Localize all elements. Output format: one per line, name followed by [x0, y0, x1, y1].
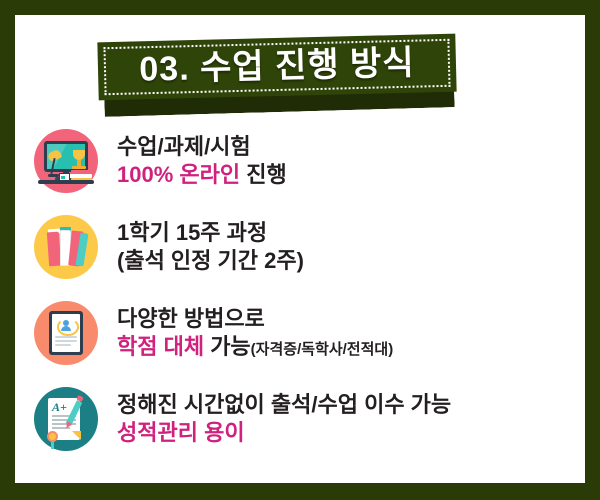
- person-body-icon: [61, 326, 71, 331]
- banner-plate: 03. 수업 진행 방식: [97, 34, 456, 101]
- list-item-line1: 다양한 방법으로: [117, 305, 585, 333]
- a-plus-paper-pencil-icon: A+: [34, 387, 98, 451]
- icon-cell: [15, 301, 117, 365]
- text-cell: 수업/과제/시험 100% 온라인 진행: [117, 133, 585, 189]
- certificate-icon: [34, 301, 98, 365]
- highlight-text: 학점 대체: [117, 334, 204, 359]
- list-item-line2: (출석 인정 기간 2주): [117, 247, 585, 275]
- list-item-line2: 100% 온라인 진행: [117, 161, 585, 189]
- award-rosette-icon: [47, 431, 58, 442]
- text-cell: 다양한 방법으로 학점 대체 가능(자격증/독학사/전적대): [117, 305, 585, 361]
- computer-tower-light-icon: [61, 176, 65, 179]
- certificate-text-line: [55, 340, 77, 342]
- desk-icon: [38, 180, 94, 184]
- list-item: A+ 정해진 시간없이 출석/수업 이수 가능 성적관리 용이: [15, 376, 585, 462]
- plain-text: 가능: [204, 334, 251, 359]
- list-item-line2: 성적관리 용이: [117, 419, 585, 447]
- list-item: 수업/과제/시험 100% 온라인 진행: [15, 118, 585, 204]
- text-cell: 1학기 15주 과정 (출석 인정 기간 2주): [117, 219, 585, 275]
- icon-cell: [15, 215, 117, 279]
- certificate-text-line: [55, 344, 71, 346]
- list-item: 1학기 15주 과정 (출석 인정 기간 2주): [15, 204, 585, 290]
- desk-lamp-foot-icon: [48, 174, 59, 177]
- icon-cell: A+: [15, 387, 117, 451]
- paper-text-line: [52, 423, 76, 425]
- trophy-base-icon: [72, 166, 86, 169]
- certificate-text-line: [55, 336, 77, 338]
- highlight-text: 100% 온라인: [117, 162, 240, 187]
- list-item: 다양한 방법으로 학점 대체 가능(자격증/독학사/전적대): [15, 290, 585, 376]
- feature-list: 수업/과제/시험 100% 온라인 진행 1학기 15주 과정 (출석 인정 기…: [15, 118, 585, 462]
- icon-cell: [15, 129, 117, 193]
- page-title: 03. 수업 진행 방식: [98, 45, 457, 88]
- grade-label: A+: [52, 400, 67, 415]
- list-item-note: (자격증/독학사/전적대): [251, 341, 394, 358]
- title-banner: 03. 수업 진행 방식: [98, 38, 458, 100]
- text-cell: 정해진 시간없이 출석/수업 이수 가능 성적관리 용이: [117, 391, 585, 447]
- books-stack-icon: [34, 215, 98, 279]
- list-item-line2: 학점 대체 가능(자격증/독학사/전적대): [117, 333, 585, 361]
- list-item-line1: 정해진 시간없이 출석/수업 이수 가능: [117, 391, 585, 419]
- frame-border-top: [0, 0, 600, 15]
- frame-border-bottom: [0, 483, 600, 500]
- plain-text: 진행: [240, 162, 287, 187]
- infographic-poster: 03. 수업 진행 방식: [0, 0, 600, 500]
- list-item-line1: 수업/과제/시험: [117, 133, 585, 161]
- frame-border-left: [0, 0, 15, 500]
- frame-border-right: [585, 0, 600, 500]
- list-item-line1: 1학기 15주 과정: [117, 219, 585, 247]
- online-monitor-icon: [34, 129, 98, 193]
